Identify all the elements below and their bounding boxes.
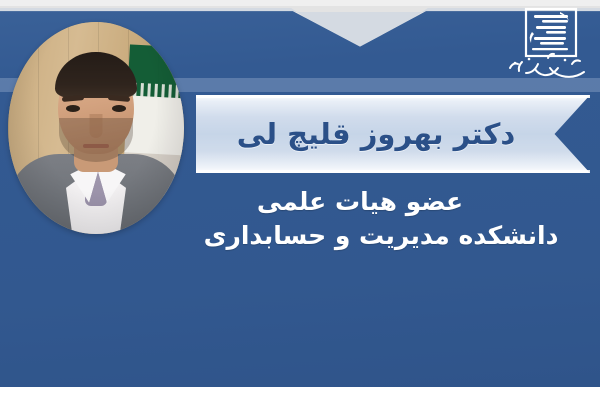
mouth <box>83 144 109 148</box>
nose <box>90 114 103 138</box>
bottom-white-margin <box>0 387 600 400</box>
flag-kufic-band <box>133 83 180 99</box>
faculty-name: دکتر بهروز قلیچ لی <box>196 95 556 173</box>
subtitle-line-department: دانشکده مدیریت و حسابداری <box>140 220 600 252</box>
faculty-subtitle: عضو هیات علمی دانشکده مدیریت و حسابداری <box>140 186 580 252</box>
eye-left <box>66 105 80 112</box>
faculty-profile-card: دکتر بهروز قلیچ لی <box>0 0 600 400</box>
university-logo <box>498 6 590 90</box>
subtitle-line-position: عضو هیات علمی <box>140 186 580 218</box>
eye-right <box>112 105 126 112</box>
